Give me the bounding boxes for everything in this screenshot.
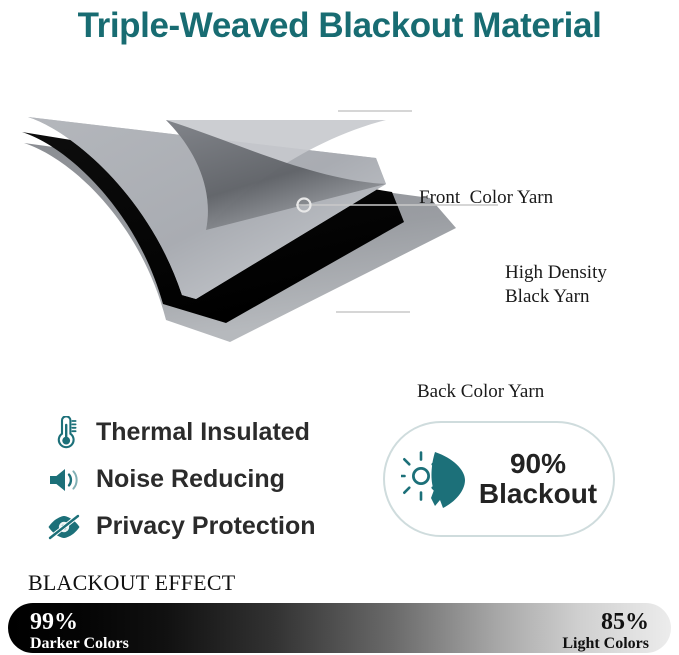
thermometer-icon xyxy=(44,414,84,452)
fabric-layers-diagram: Front Color Yarn High Density Black Yarn… xyxy=(0,80,679,355)
feature-thermal-insulated: Thermal Insulated xyxy=(44,410,374,455)
diagram-label-back-color-yarn: Back Color Yarn xyxy=(417,380,544,404)
blackout-effect-light-colors: 85% Light Colors xyxy=(562,610,649,654)
blackout-badge: 90%Blackout xyxy=(383,421,615,537)
darker-colors-label: Darker Colors xyxy=(30,635,129,653)
features-list: Thermal Insulated Noise Reducing Privacy… xyxy=(44,410,374,551)
eye-slash-icon xyxy=(44,508,84,546)
sun-blocked-icon xyxy=(401,446,471,512)
badge-label: Blackout xyxy=(479,478,597,509)
blackout-effect-gradient-bar: 99% Darker Colors 85% Light Colors xyxy=(8,603,671,653)
feature-label-noise-reducing: Noise Reducing xyxy=(96,465,285,494)
feature-label-privacy-protection: Privacy Protection xyxy=(96,512,316,541)
blackout-effect-heading: BLACKOUT EFFECT xyxy=(28,570,235,596)
diagram-label-front-color-yarn: Front Color Yarn xyxy=(419,186,553,210)
badge-percent: 90% xyxy=(510,448,566,479)
feature-label-thermal-insulated: Thermal Insulated xyxy=(96,418,310,447)
blackout-effect-darker-colors: 99% Darker Colors xyxy=(30,610,129,654)
darker-colors-percent: 99% xyxy=(30,610,129,635)
speaker-icon xyxy=(44,461,84,499)
feature-privacy-protection: Privacy Protection xyxy=(44,504,374,549)
light-colors-label: Light Colors xyxy=(562,635,649,653)
light-colors-percent: 85% xyxy=(562,610,649,635)
badge-text: 90%Blackout xyxy=(479,449,597,508)
diagram-label-high-density-black-yarn: High Density Black Yarn xyxy=(505,261,607,309)
feature-noise-reducing: Noise Reducing xyxy=(44,457,374,502)
page-title: Triple-Weaved Blackout Material xyxy=(0,0,679,52)
